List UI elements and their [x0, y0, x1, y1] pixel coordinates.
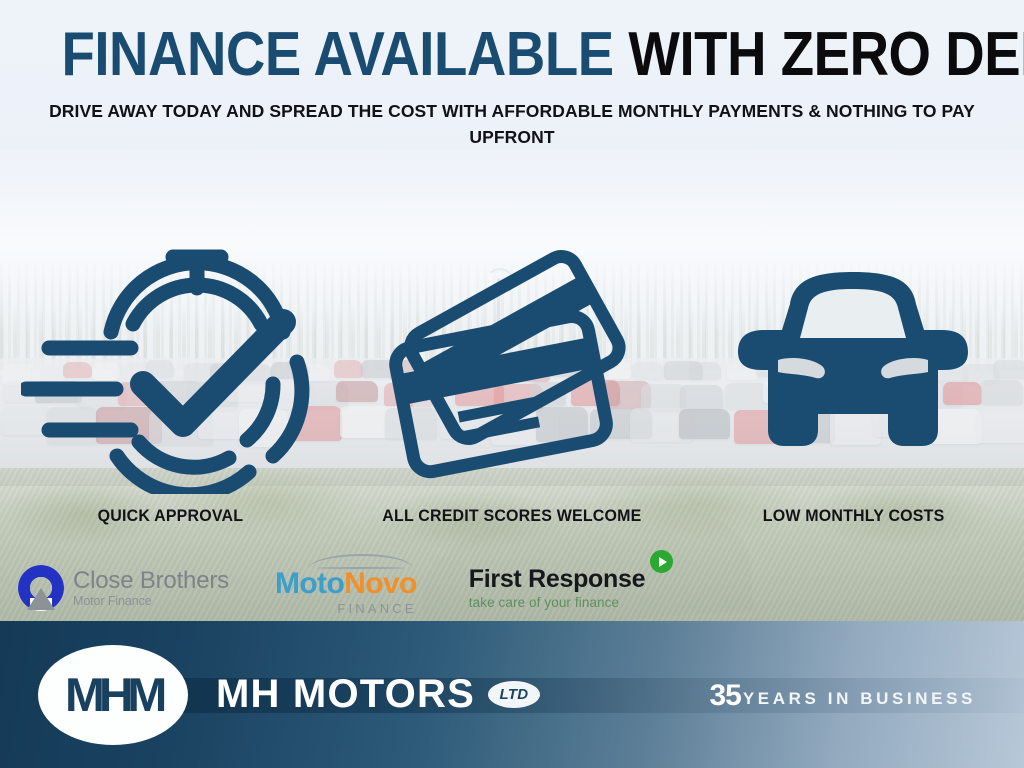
partner-tagline: take care of your finance: [469, 595, 645, 610]
headline-highlight: FINANCE AVAILABLE: [61, 20, 628, 89]
page-title: FINANCE AVAILABLE WITH ZERO DEPOSIT: [61, 26, 962, 84]
feature-low-monthly-costs: LOW MONTHLY COSTS: [683, 196, 1024, 526]
close-brothers-mark-icon: [18, 565, 64, 611]
credit-cards-icon: [341, 238, 682, 500]
finance-partner-logos: Close Brothers Motor Finance MotoNovo FI…: [0, 556, 1024, 620]
close-brothers-wordmark: Close Brothers Motor Finance: [73, 569, 229, 608]
years-in-business: 35 YEARS IN BUSINESS: [709, 680, 976, 710]
ltd-badge-label: LTD: [499, 686, 528, 703]
feature-all-credit-scores: ALL CREDIT SCORES WELCOME: [341, 196, 682, 526]
feature-quick-approval: QUICK APPROVAL: [0, 196, 341, 526]
partner-logo-first-response: First Response take care of your finance: [469, 566, 655, 609]
header-block: FINANCE AVAILABLE WITH ZERO DEPOSIT DRIV…: [0, 0, 1024, 170]
play-button-icon: [650, 550, 673, 573]
finance-promo-banner: FINANCE AVAILABLE WITH ZERO DEPOSIT DRIV…: [0, 0, 1024, 768]
feature-label: ALL CREDIT SCORES WELCOME: [382, 506, 641, 526]
headline-rest: WITH ZERO DEPOSIT: [628, 20, 1024, 89]
feature-label: LOW MONTHLY COSTS: [762, 506, 944, 526]
partner-subtitle: FINANCE: [275, 601, 417, 616]
partner-tagline: Motor Finance: [73, 595, 229, 608]
motonovo-wordmark: MotoNovo: [275, 569, 417, 599]
years-number: 35: [709, 681, 740, 711]
mhm-logo[interactable]: MHM: [38, 645, 188, 745]
ltd-badge: LTD: [488, 681, 540, 708]
feature-list: QUICK APPROVAL: [0, 196, 1024, 526]
years-label: YEARS IN BUSINESS: [743, 689, 976, 709]
partner-name: First Response: [469, 566, 645, 592]
page-subtitle: DRIVE AWAY TODAY AND SPREAD THE COST WIT…: [22, 98, 1002, 150]
company-name: MH MOTORS: [216, 672, 475, 717]
footer-bar: MHM MH MOTORS LTD 35 YEARS IN BUSINESS: [0, 621, 1024, 768]
partner-logo-close-brothers: Close Brothers Motor Finance: [18, 565, 229, 611]
partner-logo-motonovo: MotoNovo FINANCE: [275, 560, 417, 616]
car-front-icon: [683, 238, 1024, 500]
stopwatch-check-icon: [0, 238, 341, 500]
mhm-logo-initials: MHM: [65, 667, 161, 722]
feature-label: QUICK APPROVAL: [98, 506, 244, 526]
motonovo-car-swoosh-icon: [308, 554, 414, 572]
partner-name: Close Brothers: [73, 569, 229, 593]
close-brothers-mountain-icon: [27, 588, 55, 610]
